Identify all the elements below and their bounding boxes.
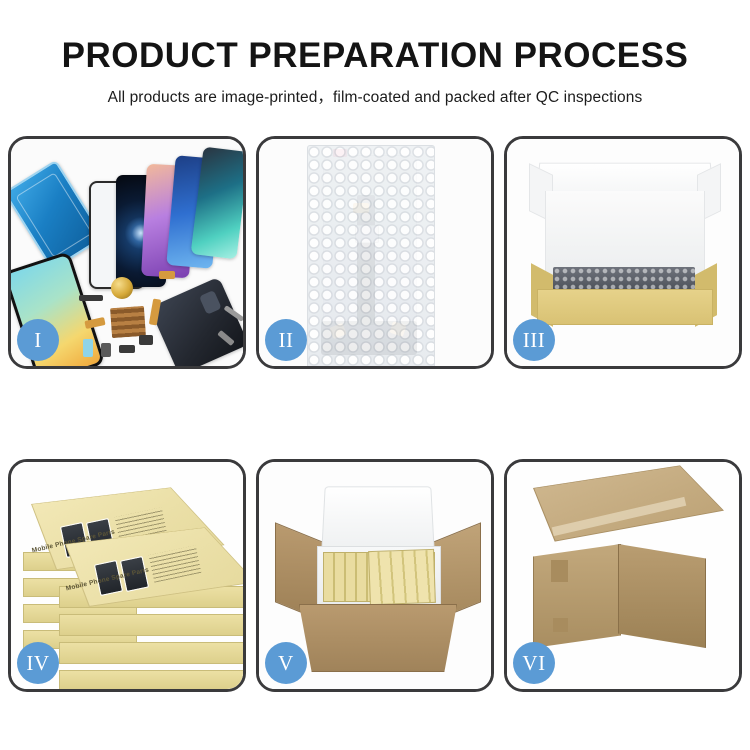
small-part <box>119 345 135 353</box>
carton-right-face <box>618 544 706 648</box>
bubble-wrap-sheet <box>307 145 435 366</box>
process-panel-grid: I II III <box>8 136 742 692</box>
styrofoam-lid <box>321 486 435 553</box>
process-step-panel-6[interactable]: VI <box>504 459 742 692</box>
small-part <box>101 343 111 357</box>
step-badge-4: IV <box>17 642 59 684</box>
small-part <box>159 271 175 279</box>
vibration-motor-part <box>111 277 133 299</box>
small-part <box>139 335 153 345</box>
process-step-panel-5[interactable]: V <box>256 459 494 692</box>
process-step-panel-2[interactable]: II <box>256 136 494 369</box>
page-subtitle: All products are image-printed，film-coat… <box>0 76 750 107</box>
packed-boxes <box>368 549 436 605</box>
small-part <box>79 295 103 301</box>
carton-tab <box>553 618 568 632</box>
carton-left-face <box>533 544 621 648</box>
carton-tab <box>551 560 568 582</box>
header: PRODUCT PREPARATION PROCESS All products… <box>0 0 750 107</box>
small-part <box>83 339 93 357</box>
chip-grid-part <box>110 306 146 338</box>
step-badge-1: I <box>17 319 59 361</box>
box-tray-front <box>537 289 713 325</box>
step-badge-2: II <box>265 319 307 361</box>
box-edge <box>59 670 243 689</box>
box-edge <box>59 642 243 664</box>
carton-front-panel <box>299 604 457 672</box>
box-inner-wall <box>545 191 705 277</box>
box-edge <box>59 614 243 636</box>
step-badge-6: VI <box>513 642 555 684</box>
process-step-panel-1[interactable]: I <box>8 136 246 369</box>
step-badge-5: V <box>265 642 307 684</box>
step-badge-3: III <box>513 319 555 361</box>
process-step-panel-3[interactable]: III <box>504 136 742 369</box>
process-step-panel-4[interactable]: Mobile Phone Spare Parts Mobile Phone Sp… <box>8 459 246 692</box>
page-title: PRODUCT PREPARATION PROCESS <box>0 0 750 76</box>
